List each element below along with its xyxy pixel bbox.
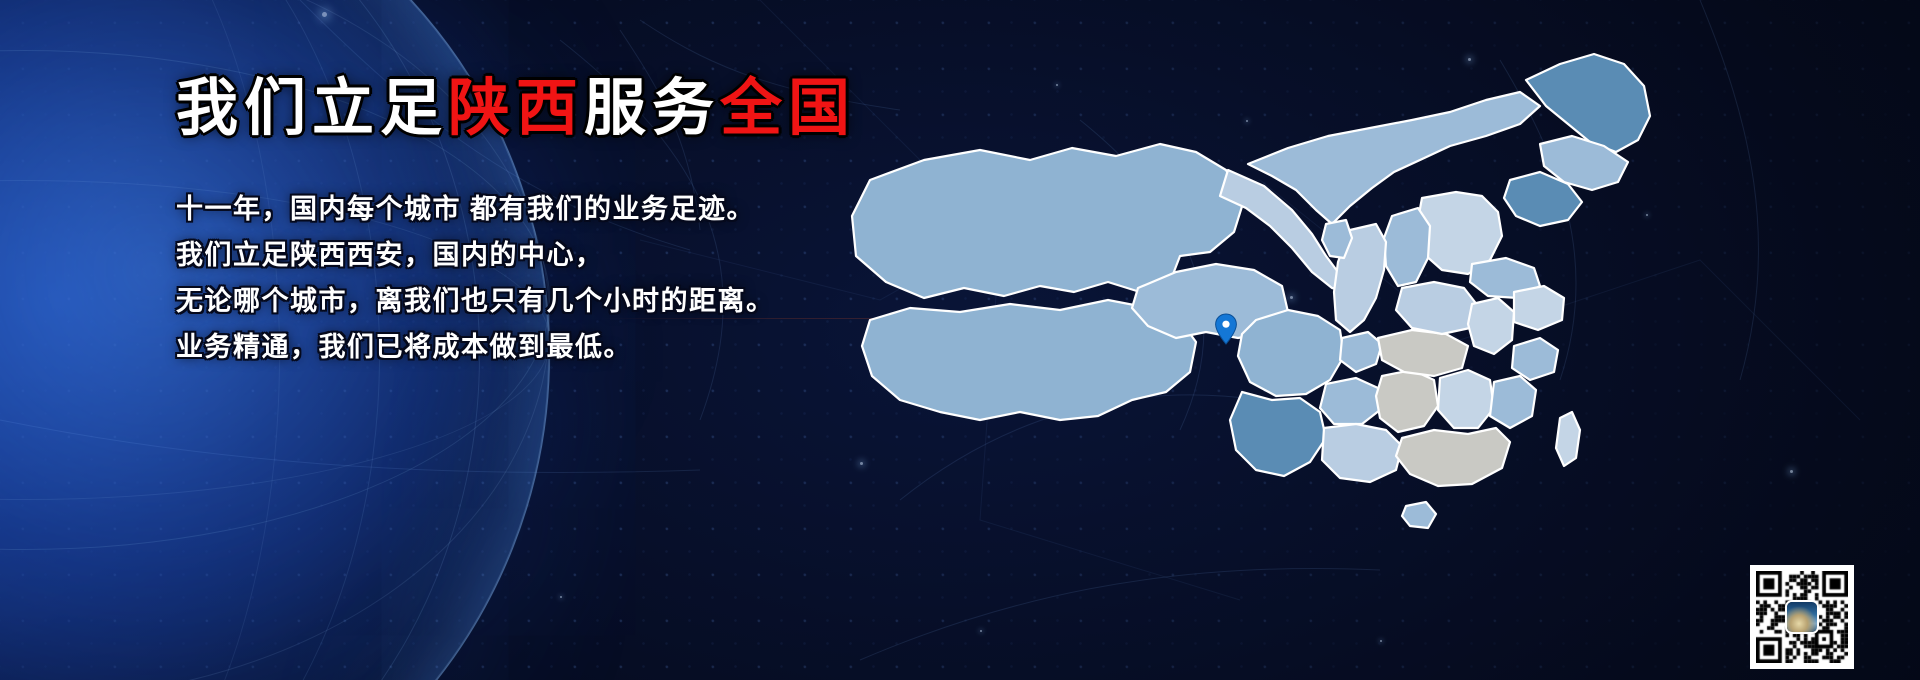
province-guangxi [1322,424,1402,482]
province-heilongjiang [1526,54,1650,152]
headline-segment-3: 服务 [584,74,720,143]
province-fujian [1490,376,1536,428]
hero-banner: 我们立足陕西服务全国 十一年，国内每个城市 都有我们的业务足迹。 我们立足陕西西… [0,0,1920,680]
province-taiwan [1556,412,1580,466]
province-chongqing [1340,332,1382,372]
province-hubei [1378,330,1468,376]
photo-thumbnail-icon [1787,602,1817,632]
province-henan [1396,282,1478,334]
banner-copy: 我们立足陕西服务全国 十一年，国内每个城市 都有我们的业务足迹。 我们立足陕西西… [176,78,896,370]
headline-segment-1: 我们立足 [176,74,448,143]
province-guizhou [1320,378,1380,424]
province-guangdong [1396,428,1510,486]
province-shanxi [1384,208,1430,286]
province-zhejiang [1512,338,1558,380]
province-jiangxi [1438,370,1494,428]
headline-segment-4-highlight: 全国 [720,74,856,143]
china-map [1020,20,1840,660]
banner-description: 十一年，国内每个城市 都有我们的业务足迹。 我们立足陕西西安，国内的中心， 无论… [176,186,896,370]
province-anhui [1468,298,1514,354]
description-line-4: 业务精通，我们已将成本做到最低。 [176,324,896,370]
province-yunnan [1230,392,1326,476]
headline-segment-2-highlight: 陕西 [448,74,584,143]
description-line-2: 我们立足陕西西安，国内的中心， [176,232,896,278]
province-hunan [1376,370,1438,432]
page-title: 我们立足陕西服务全国 [176,78,896,140]
description-line-3: 无论哪个城市，离我们也只有几个小时的距离。 [176,278,896,324]
location-pin-icon[interactable] [1214,313,1238,345]
province-jiangsu [1514,286,1564,330]
wechat-qr-code[interactable] [1750,565,1854,669]
province-inner-mongolia [1248,92,1540,224]
province-hainan [1402,502,1436,528]
description-line-1: 十一年，国内每个城市 都有我们的业务足迹。 [176,186,896,232]
